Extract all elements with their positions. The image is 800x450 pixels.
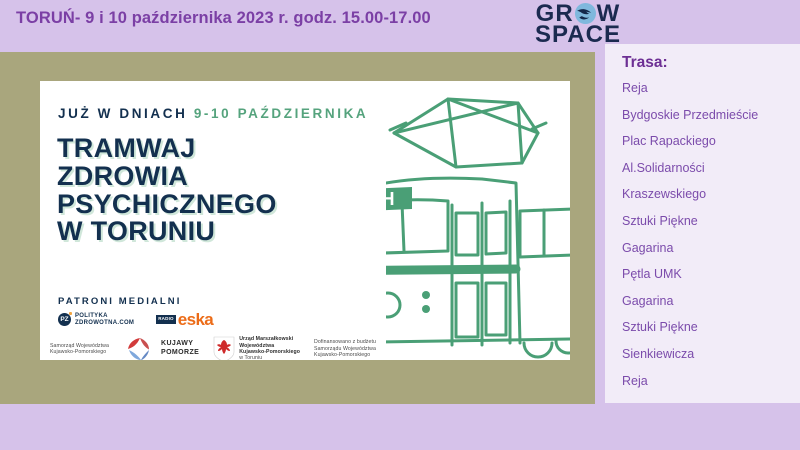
sponsor-kujawy-pomorze: KUJAWY POMORZE: [123, 336, 199, 360]
brand-text-after-globe: W: [597, 0, 621, 27]
kp-line-1: KUJAWY: [161, 340, 199, 349]
media-patrons-row: PZ POLITYKA ZDROWOTNA.COM RADIO eska: [58, 311, 213, 328]
kujawy-pomorze-icon: [123, 336, 157, 360]
page-title: TORUŃ- 9 i 10 października 2023 r. godz.…: [16, 9, 431, 28]
pz-mark-icon: PZ: [58, 313, 71, 326]
route-stop-item[interactable]: Bydgoskie Przedmieście: [622, 109, 794, 136]
route-stop-item[interactable]: Sztuki Piękne: [622, 321, 794, 348]
route-stop-item[interactable]: Al.Solidarności: [622, 162, 794, 189]
route-stop-item[interactable]: Reja: [622, 82, 794, 109]
route-stop-item[interactable]: Sztuki Piękne: [622, 215, 794, 242]
poster-headline: TRAMWAJ ZDROWIA PSYCHICZNEGO W TORUNIU: [57, 135, 277, 246]
poster-headline-line-1: TRAMWAJ: [57, 135, 277, 163]
eska-wordmark: eska: [178, 311, 213, 328]
brand-text-before-globe: GR: [536, 0, 574, 27]
polityka-zdrowotna-wordmark: POLITYKA ZDROWOTNA.COM: [75, 313, 134, 326]
brand-logo-line-1: GR W: [536, 2, 621, 26]
pz-line-2: ZDROWOTNA.COM: [75, 320, 134, 326]
poster-kicker: JUŻ W DNIACH 9-10 PAŹDZIERNIKA: [58, 106, 368, 121]
sponsor-dofinansowano: Dofinansowano z budżetu Samorządu Wojewó…: [314, 339, 376, 358]
um-line-1: Urząd Marszałkowski: [239, 336, 300, 342]
kp-line-2: POMORZE: [161, 349, 199, 358]
dofinansowano-text: Dofinansowano z budżetu Samorządu Wojewó…: [314, 339, 376, 358]
route-stop-item[interactable]: Gagarina: [622, 295, 794, 322]
sponsor-samorzad-wojewodztwa: Samorząd Województwa Kujawsko-Pomorskieg…: [50, 343, 109, 356]
eska-radio-tag: RADIO: [156, 315, 176, 324]
poster-headline-line-4: W TORUNIU: [57, 218, 277, 246]
coat-of-arms-icon: [213, 336, 235, 360]
sponsor-samorzad-line-2: Kujawsko-Pomorskiego: [50, 349, 109, 355]
route-stop-item[interactable]: Reja: [622, 375, 794, 402]
poster-kicker-label: JUŻ W DNIACH: [58, 106, 187, 121]
brand-logo[interactable]: GR W SPACE: [519, 2, 637, 50]
polityka-zdrowotna-logo: PZ POLITYKA ZDROWOTNA.COM: [58, 313, 134, 326]
route-heading: Trasa:: [622, 54, 668, 72]
radio-eska-logo: RADIO eska: [156, 311, 213, 328]
route-stop-item[interactable]: Pętla UMK: [622, 268, 794, 295]
route-stop-item[interactable]: Gagarina: [622, 242, 794, 269]
media-patrons-label: PATRONI MEDIALNI: [58, 296, 182, 307]
event-poster[interactable]: JUŻ W DNIACH 9-10 PAŹDZIERNIKA TRAMWAJ Z…: [40, 81, 570, 360]
route-panel: Trasa: Reja Bydgoskie Przedmieście Plac …: [605, 44, 800, 403]
um-line-4: w Toruniu: [239, 355, 300, 360]
sponsor-samorzad-text: Samorząd Województwa Kujawsko-Pomorskieg…: [50, 343, 109, 356]
poster-headline-line-2: ZDROWIA: [57, 163, 277, 191]
urzad-marszalkowski-text: Urząd Marszałkowski Województwa Kujawsko…: [239, 336, 300, 360]
route-stop-item[interactable]: Sienkiewicza: [622, 348, 794, 375]
route-stop-item[interactable]: Plac Rapackiego: [622, 135, 794, 162]
sponsor-urzad-marszalkowski: Urząd Marszałkowski Województwa Kujawsko…: [213, 336, 300, 360]
dof-line-3: Kujawsko-Pomorskiego: [314, 352, 376, 358]
globe-icon: [574, 2, 597, 25]
poster-headline-line-3: PSYCHICZNEGO: [57, 191, 277, 219]
tram-illustration: H: [386, 93, 570, 360]
poster-kicker-date: 9-10 PAŹDZIERNIKA: [194, 106, 368, 121]
route-stop-list: Reja Bydgoskie Przedmieście Plac Rapacki…: [622, 82, 794, 401]
tram-destination-sign: H: [386, 189, 395, 209]
dof-line-1: Dofinansowano z budżetu: [314, 339, 376, 345]
route-stop-item[interactable]: Kraszewskiego: [622, 188, 794, 215]
kujawy-pomorze-wordmark: KUJAWY POMORZE: [161, 340, 199, 357]
